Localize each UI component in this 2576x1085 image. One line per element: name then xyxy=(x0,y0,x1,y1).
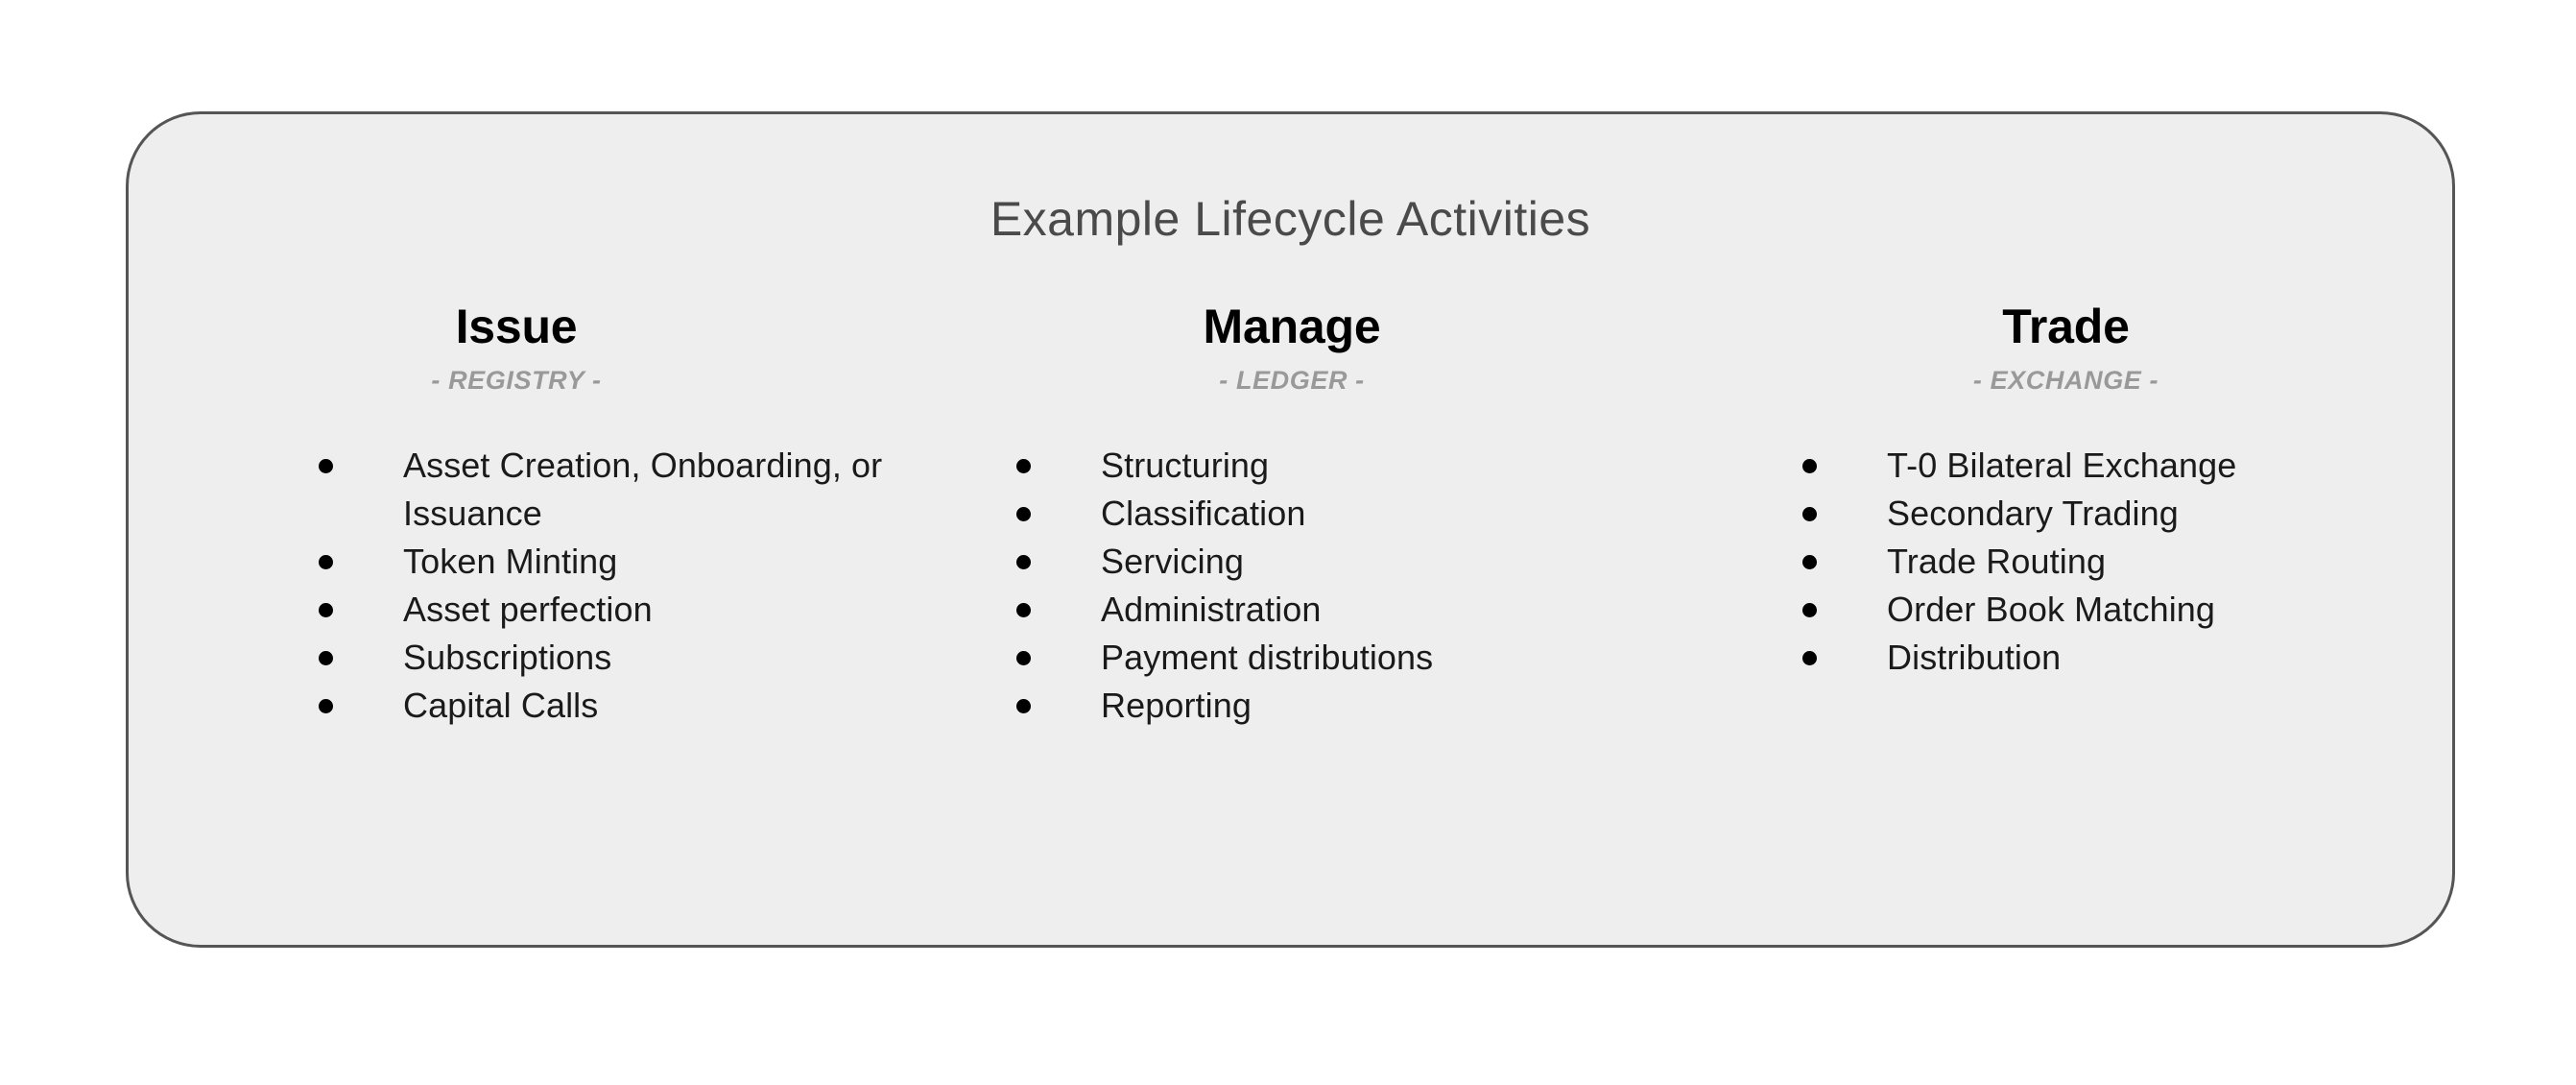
bullet-dot-icon xyxy=(319,603,333,617)
list-item-label: T-0 Bilateral Exchange xyxy=(1887,442,2424,490)
bullet-dot-icon xyxy=(1016,555,1031,569)
bullet-dot-icon xyxy=(319,699,333,713)
list-item: Token Minting xyxy=(319,538,904,586)
list-item: Administration xyxy=(1016,586,1680,634)
column-subheading-exchange: - EXCHANGE - xyxy=(1680,368,2452,394)
list-item-label: Trade Routing xyxy=(1887,538,2424,586)
bullet-dot-icon xyxy=(1802,555,1817,569)
list-item-label: Asset perfection xyxy=(403,586,904,634)
list-item: Asset Creation, Onboarding, or Issuance xyxy=(319,442,904,538)
list-item: Trade Routing xyxy=(1802,538,2452,586)
column-heading-issue: Issue xyxy=(129,302,904,350)
column-manage: Manage - LEDGER - Structuring Classifica… xyxy=(904,302,1680,730)
list-item: Capital Calls xyxy=(319,682,904,730)
list-item: Payment distributions xyxy=(1016,634,1680,682)
list-item: Asset perfection xyxy=(319,586,904,634)
list-item-label: Asset Creation, Onboarding, or Issuance xyxy=(403,442,904,538)
list-item: Servicing xyxy=(1016,538,1680,586)
columns-container: Issue - REGISTRY - Asset Creation, Onboa… xyxy=(129,302,2452,730)
list-item-label: Payment distributions xyxy=(1101,634,1638,682)
bullet-dot-icon xyxy=(319,651,333,665)
list-item: Secondary Trading xyxy=(1802,490,2452,538)
list-item-label: Classification xyxy=(1101,490,1638,538)
list-item: Subscriptions xyxy=(319,634,904,682)
bullet-list-manage: Structuring Classification Servicing Adm… xyxy=(1016,442,1680,730)
list-item: Classification xyxy=(1016,490,1680,538)
list-item-label: Secondary Trading xyxy=(1887,490,2424,538)
page-title: Example Lifecycle Activities xyxy=(129,195,2452,243)
list-item-label: Token Minting xyxy=(403,538,904,586)
bullet-dot-icon xyxy=(1016,651,1031,665)
list-item-label: Order Book Matching xyxy=(1887,586,2424,634)
bullet-dot-icon xyxy=(1016,603,1031,617)
list-item: T-0 Bilateral Exchange xyxy=(1802,442,2452,490)
lifecycle-activities-card: Example Lifecycle Activities Issue - REG… xyxy=(126,111,2455,948)
column-subheading-registry: - REGISTRY - xyxy=(129,368,904,394)
list-item-label: Structuring xyxy=(1101,442,1638,490)
column-trade: Trade - EXCHANGE - T-0 Bilateral Exchang… xyxy=(1680,302,2452,730)
list-item: Order Book Matching xyxy=(1802,586,2452,634)
column-issue: Issue - REGISTRY - Asset Creation, Onboa… xyxy=(129,302,904,730)
column-subheading-ledger: - LEDGER - xyxy=(904,368,1680,394)
list-item: Structuring xyxy=(1016,442,1680,490)
list-item-label: Administration xyxy=(1101,586,1638,634)
bullet-dot-icon xyxy=(1802,651,1817,665)
list-item-label: Distribution xyxy=(1887,634,2424,682)
list-item-label: Reporting xyxy=(1101,682,1638,730)
list-item: Reporting xyxy=(1016,682,1680,730)
bullet-dot-icon xyxy=(1802,459,1817,473)
bullet-dot-icon xyxy=(319,555,333,569)
list-item-label: Subscriptions xyxy=(403,634,904,682)
bullet-list-issue: Asset Creation, Onboarding, or Issuance … xyxy=(319,442,904,730)
bullet-dot-icon xyxy=(1016,507,1031,521)
bullet-dot-icon xyxy=(1802,603,1817,617)
page-canvas: Example Lifecycle Activities Issue - REG… xyxy=(0,0,2576,1085)
bullet-list-trade: T-0 Bilateral Exchange Secondary Trading… xyxy=(1802,442,2452,682)
bullet-dot-icon xyxy=(1016,459,1031,473)
list-item-label: Capital Calls xyxy=(403,682,904,730)
list-item-label: Servicing xyxy=(1101,538,1638,586)
column-heading-manage: Manage xyxy=(904,302,1680,350)
bullet-dot-icon xyxy=(1802,507,1817,521)
bullet-dot-icon xyxy=(319,459,333,473)
list-item: Distribution xyxy=(1802,634,2452,682)
bullet-dot-icon xyxy=(1016,699,1031,713)
column-heading-trade: Trade xyxy=(1680,302,2452,350)
